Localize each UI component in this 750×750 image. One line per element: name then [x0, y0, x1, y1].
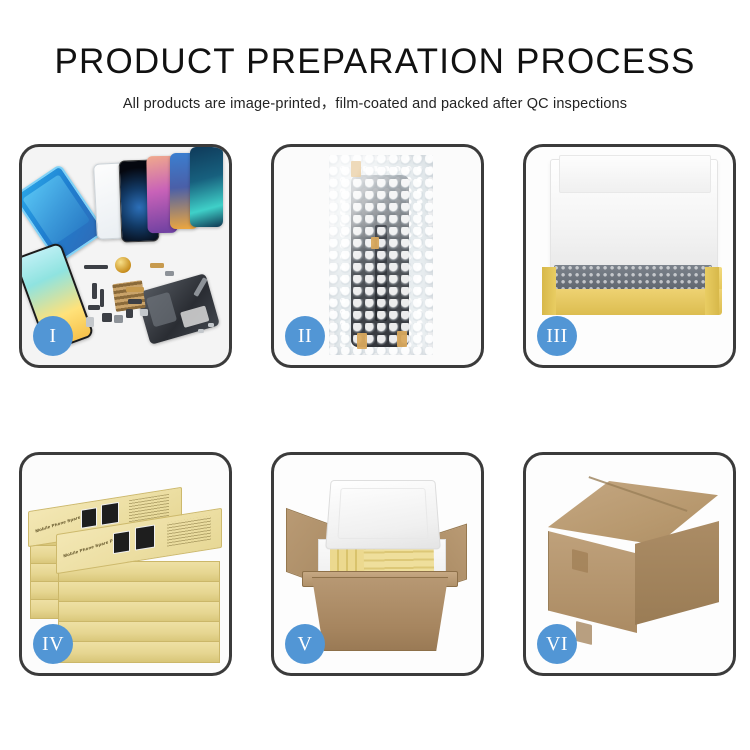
teal-gradient-phone: [190, 147, 223, 227]
carton-left-face: [548, 531, 637, 633]
step-badge-6: VI: [537, 624, 577, 664]
tape-piece: [351, 161, 361, 177]
foam-box-lid: [325, 480, 441, 549]
tape-piece: [397, 331, 407, 347]
box-spec-lines: [167, 516, 211, 547]
yellow-tray-left-side: [542, 267, 556, 315]
box-window: [113, 530, 130, 554]
process-step-panel-5[interactable]: V: [271, 452, 484, 676]
spare-part: [140, 309, 148, 316]
process-step-panel-2[interactable]: II: [271, 144, 484, 368]
spare-part: [126, 287, 144, 292]
yellow-tray-front: [542, 289, 722, 315]
page-header: PRODUCT PREPARATION PROCESS All products…: [0, 0, 750, 113]
process-step-panel-4[interactable]: Mobile Phone Spare Parts Mobile Phone Sp…: [19, 452, 232, 676]
box-window: [81, 507, 97, 529]
process-step-panel-6[interactable]: VI: [523, 452, 736, 676]
step-badge-5: V: [285, 624, 325, 664]
spare-part: [165, 271, 174, 276]
spare-part: [198, 329, 204, 333]
spare-part: [86, 317, 94, 327]
carton-tape-patch: [576, 621, 592, 645]
spare-part: [92, 283, 97, 299]
spare-part: [208, 323, 214, 327]
tape-piece: [357, 333, 367, 349]
stacked-box: [58, 601, 220, 623]
spare-part: [114, 315, 123, 323]
spare-part: [100, 289, 104, 307]
box-window: [101, 502, 119, 526]
page-title: PRODUCT PREPARATION PROCESS: [0, 0, 750, 81]
phone-back-housing: [136, 273, 220, 345]
step-badge-4: IV: [33, 624, 73, 664]
process-step-panel-3[interactable]: III: [523, 144, 736, 368]
carton-tape-patch: [572, 549, 588, 573]
step-badge-2: II: [285, 316, 325, 356]
box-window: [135, 524, 155, 550]
stacked-box: [58, 581, 220, 603]
bubble-wrap-bag: [329, 155, 433, 355]
step-badge-1: I: [33, 316, 73, 356]
stacked-box: [58, 641, 220, 663]
carton-body: [306, 577, 454, 651]
process-step-grid: I II III: [19, 144, 736, 680]
yellow-tray-right-side: [705, 267, 719, 315]
spare-part: [88, 305, 100, 310]
vibration-motor-part: [115, 257, 131, 273]
page-subtitle: All products are image-printed，film-coat…: [0, 81, 750, 113]
spare-part: [102, 313, 112, 322]
spare-part: [150, 263, 164, 268]
step-badge-3: III: [537, 316, 577, 356]
spare-part: [126, 309, 133, 318]
chip-board-part: [112, 280, 146, 312]
white-box-lid: [550, 159, 718, 279]
tape-piece: [371, 237, 379, 249]
spare-part: [84, 265, 108, 269]
bubble-texture: [329, 155, 433, 355]
process-step-panel-1[interactable]: I: [19, 144, 232, 368]
spare-part: [128, 299, 142, 304]
stacked-box: [58, 621, 220, 643]
